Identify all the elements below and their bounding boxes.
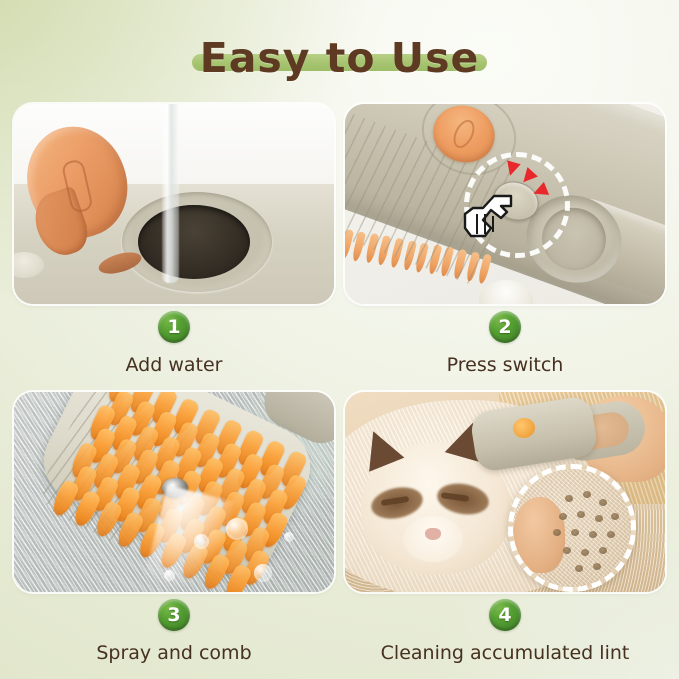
bristle-hole (575, 565, 583, 572)
bristle-hole (559, 513, 567, 520)
step-4-scene (345, 392, 665, 592)
page-title: Easy to Use (0, 22, 679, 94)
bristle-hole (611, 513, 619, 520)
water-droplet (194, 534, 209, 549)
bristle-hole (589, 531, 597, 538)
water-droplet (284, 532, 294, 542)
step-4-caption: Cleaning accumulated lint (381, 642, 630, 664)
bristle-hole (581, 549, 589, 556)
step-3-badge: 3 (158, 599, 190, 631)
water-droplet (164, 570, 175, 581)
step-2: 2 Press switch (345, 104, 665, 376)
bristle-hole (599, 547, 607, 554)
title-inner: Easy to Use (186, 34, 494, 82)
step-1-caption: Add water (126, 354, 223, 376)
hand-cursor-icon (461, 190, 521, 248)
bristle-hole (571, 529, 579, 536)
step-2-badge: 2 (489, 311, 521, 343)
bristle-hole (577, 511, 585, 518)
step-3: 3 Spray and comb (14, 392, 334, 664)
step-3-scene (14, 392, 334, 592)
page-title-text: Easy to Use (200, 34, 480, 82)
step-3-photo (14, 392, 334, 592)
bristle-hole (607, 531, 615, 538)
bristle-hole (593, 563, 601, 570)
steps-grid: 1 Add water (14, 104, 665, 664)
step-3-caption: Spray and comb (96, 642, 251, 664)
step-2-scene (345, 104, 665, 304)
step-1-photo (14, 104, 334, 304)
step-1: 1 Add water (14, 104, 334, 376)
bristle-hole (599, 499, 607, 506)
water-stream (162, 104, 179, 283)
step-1-scene (14, 104, 334, 304)
step-4-photo (345, 392, 665, 592)
bristle-hole (595, 515, 603, 522)
cat-nose (425, 528, 441, 540)
step-2-photo (345, 104, 665, 304)
infographic-page: Easy to Use (0, 0, 679, 679)
step-4: 4 Cleaning accumulated lint (345, 392, 665, 664)
step-1-badge: 1 (158, 311, 190, 343)
water-droplet (254, 564, 272, 582)
bristle-hole (553, 529, 561, 536)
bristle-hole (583, 491, 591, 498)
lint-closeup-inset (508, 464, 636, 592)
step-2-caption: Press switch (447, 354, 564, 376)
bristle-hole (565, 495, 573, 502)
bristle-hole (563, 547, 571, 554)
fill-hole (138, 205, 250, 279)
step-4-badge: 4 (489, 599, 521, 631)
water-droplet (226, 518, 248, 540)
